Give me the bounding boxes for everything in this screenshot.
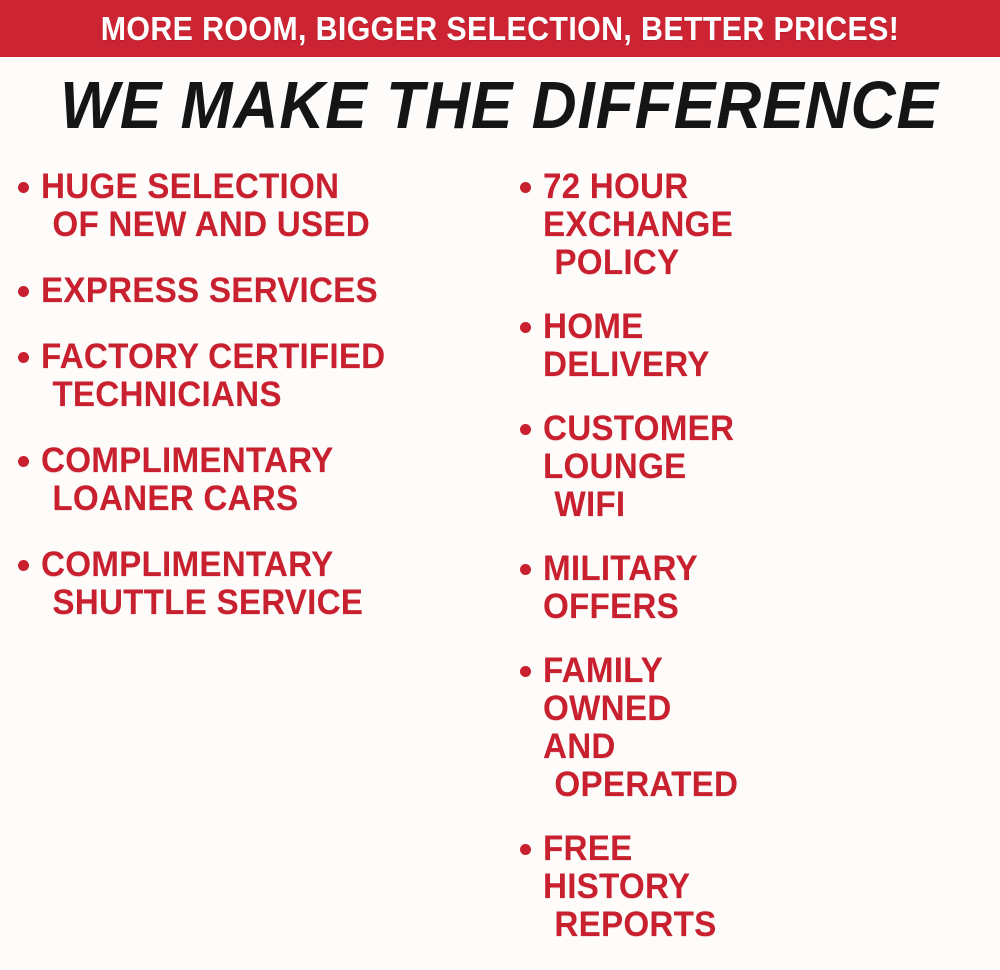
list-item-line2: LOANER CARS — [41, 480, 333, 518]
list-item-label: FACTORY CERTIFIED TECHNICIANS — [41, 338, 385, 414]
list-item-label: 72 HOUR EXCHANGE POLICY — [543, 168, 733, 282]
list-item-line1: COMPLIMENTARY — [41, 545, 333, 584]
page-title: WE MAKE THE DIFFERENCE — [61, 72, 940, 139]
list-item-line2: POLICY — [543, 244, 733, 282]
list-item-line1: HOME DELIVERY — [543, 307, 710, 384]
list-item-label: COMPLIMENTARY SHUTTLE SERVICE — [41, 546, 363, 622]
bullet-dot-icon — [520, 666, 531, 677]
list-item-label: MILITARY OFFERS — [543, 550, 697, 626]
list-item-line2: REPORTS — [543, 906, 716, 944]
list-item-label: EXPRESS SERVICES — [41, 272, 378, 310]
list-item-line1: CUSTOMER LOUNGE — [543, 409, 734, 486]
list-item-label: HUGE SELECTION OF NEW AND USED — [41, 168, 370, 244]
bullet-dot-icon — [520, 182, 531, 193]
list-item-line1: 72 HOUR EXCHANGE — [543, 167, 733, 244]
list-item-line1: FAMILY OWNED AND — [543, 651, 671, 766]
bullet-dot-icon — [520, 424, 531, 435]
list-item-line2: OPERATED — [543, 766, 738, 804]
list-item-line2: OF NEW AND USED — [41, 206, 370, 244]
list-item-line2: TECHNICIANS — [41, 376, 385, 414]
list-item-line1: FACTORY CERTIFIED — [41, 337, 385, 376]
list-item-label: FREE HISTORY REPORTS — [543, 830, 716, 944]
list-item-line1: EXPRESS SERVICES — [41, 271, 378, 310]
list-item-line2: WIFI — [543, 486, 734, 524]
bullet-dot-icon — [520, 322, 531, 333]
promo-banner-text: MORE ROOM, BIGGER SELECTION, BETTER PRIC… — [101, 12, 899, 45]
bullet-dot-icon — [520, 844, 531, 855]
list-item-label: CUSTOMER LOUNGE WIFI — [543, 410, 734, 524]
list-item-line2: SHUTTLE SERVICE — [41, 584, 363, 622]
list-item-line1: HUGE SELECTION — [41, 167, 339, 206]
list-item-label: COMPLIMENTARY LOANER CARS — [41, 442, 333, 518]
list-item-line1: MILITARY OFFERS — [543, 549, 697, 626]
promo-banner: MORE ROOM, BIGGER SELECTION, BETTER PRIC… — [0, 0, 1000, 57]
bullet-dot-icon — [520, 564, 531, 575]
list-item-label: HOME DELIVERY — [543, 308, 710, 384]
features-columns: HUGE SELECTION OF NEW AND USED EXPRESS S… — [0, 160, 1000, 694]
list-item-line1: FREE HISTORY — [543, 829, 690, 906]
headline-container: WE MAKE THE DIFFERENCE — [0, 64, 1000, 146]
list-item-label: FAMILY OWNED AND OPERATED — [543, 652, 738, 804]
list-item-line1: COMPLIMENTARY — [41, 441, 333, 480]
